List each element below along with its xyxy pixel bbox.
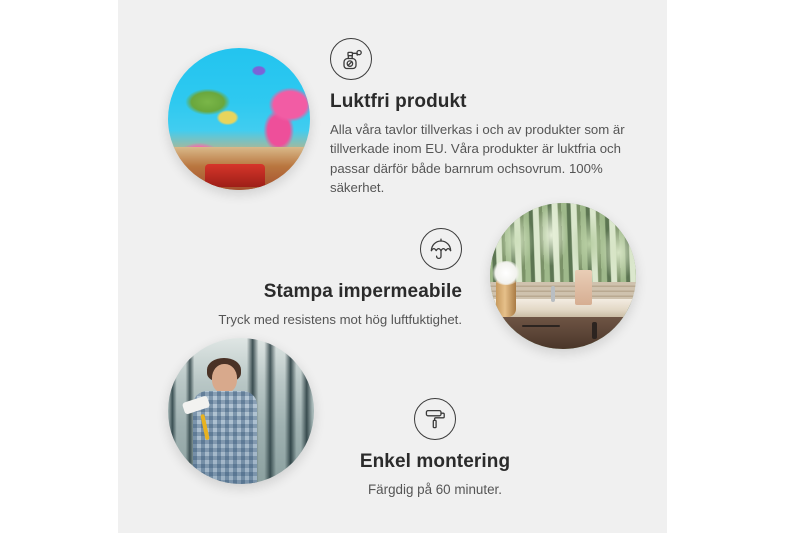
feature-easy-mounting: Enkel montering Färgdig på 60 minuter. [330,398,540,500]
feature-waterproof-print: Stampa impermeabile Tryck med resistens … [210,228,462,329]
feature-description: Tryck med resistens mot hög luftfuktighe… [210,310,462,330]
bathroom-wallpaper-artwork [490,203,636,349]
forest-mural-artwork [168,338,314,484]
woman-face [212,364,237,393]
feature-odor-free: Luktfri produkt Alla våra tavlor tillver… [330,38,630,198]
product-image-woman-paint-roller-forest[interactable] [168,338,314,484]
feature-title: Stampa impermeabile [210,280,462,304]
underwater-scene-artwork [168,48,310,190]
feature-title: Luktfri produkt [330,90,630,114]
feature-description: Alla våra tavlor tillverkas i och av pro… [330,120,630,198]
towel [575,270,593,305]
shipwreck-detail [205,164,265,187]
faucet [551,286,555,302]
umbrella-icon [420,228,462,270]
screenshot-stage: Luktfri produkt Alla våra tavlor tillver… [0,0,800,533]
wooden-vanity [490,317,636,349]
flowers [491,261,520,284]
feature-title: Enkel montering [330,450,540,474]
no-odor-spray-bottle-icon [330,38,372,80]
product-image-bathroom-leaf-wallpaper[interactable] [490,203,636,349]
paint-roller-icon [414,398,456,440]
product-image-underwater-scene[interactable] [168,48,310,190]
feature-description: Färgdig på 60 minuter. [330,480,540,500]
